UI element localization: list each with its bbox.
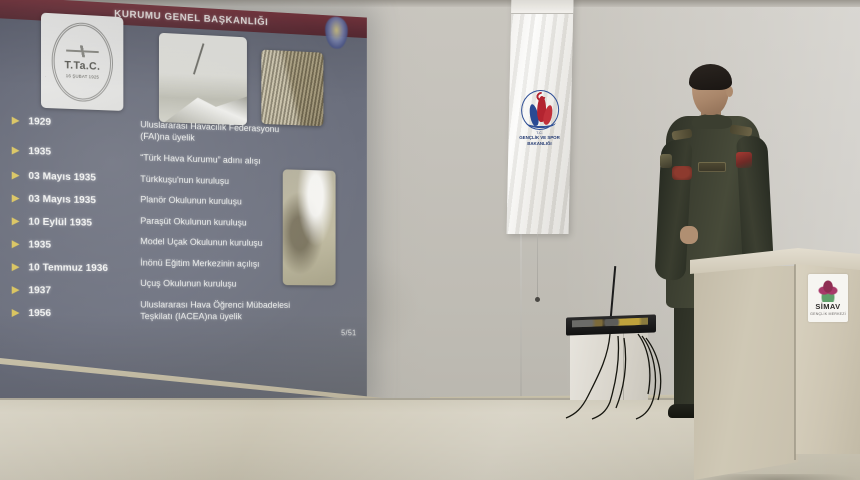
timeline-date: 1937 xyxy=(28,284,51,296)
timeline-row: 1935 xyxy=(12,145,139,161)
slide-event-column: Uluslararası Havacılık Federasyonu (FAI)… xyxy=(140,119,321,331)
timeline-row: 03 Mayıs 1935 xyxy=(12,169,139,184)
timeline-date: 1956 xyxy=(28,307,51,319)
banner-hem xyxy=(511,0,573,14)
arrow-bullet-icon xyxy=(12,117,20,125)
speaker-podium: SİMAV GENÇLİK MERKEZİ xyxy=(690,248,860,470)
timeline-date: 1935 xyxy=(28,145,51,158)
name-tape-patch xyxy=(698,162,726,172)
arrow-bullet-icon xyxy=(12,286,20,294)
podium-logo-plate: SİMAV GENÇLİK MERKEZİ xyxy=(808,274,848,322)
ministry-logo: T.C. GENÇLİK VE SPOR BAKANLIĞI xyxy=(518,90,561,146)
podium-side-panel xyxy=(694,266,798,480)
thk-emblem-icon xyxy=(325,16,348,49)
ttac-emblem-photo: T.Ta.C. 16 ŞUBAT 1925 xyxy=(41,13,123,111)
timeline-row: 1937 xyxy=(12,284,139,297)
timeline-row: 10 Eylül 1935 xyxy=(12,215,139,229)
banner-cord xyxy=(537,234,538,298)
logo-oval-icon xyxy=(521,90,560,130)
left-chest-patch xyxy=(672,166,692,180)
projected-slide: KURUMU GENEL BAŞKANLIĞI T.Ta.C. 16 ŞUBAT… xyxy=(0,0,367,402)
timeline-row: 1935 xyxy=(12,238,139,252)
emblem-abbr: T.Ta.C. xyxy=(65,59,101,72)
timeline-date: 1935 xyxy=(28,239,51,251)
podium-corner-edge xyxy=(794,260,796,460)
timeline-date: 03 Mayıs 1935 xyxy=(28,170,96,184)
timeline-row: 03 Mayıs 1935 xyxy=(12,192,139,207)
timeline-event: Paraşüt Okulunun kuruluşu xyxy=(140,215,321,230)
simav-flower-icon xyxy=(816,280,840,302)
podium-logo-sub: GENÇLİK MERKEZİ xyxy=(810,312,846,316)
arrow-bullet-icon xyxy=(12,194,20,202)
emblem-sub: 16 ŞUBAT 1925 xyxy=(66,73,99,79)
right-shoulder-patch xyxy=(736,152,752,168)
arrow-bullet-icon xyxy=(12,240,20,248)
arrow-bullet-icon xyxy=(12,263,20,271)
glider-photo xyxy=(159,33,247,126)
biplane-icon xyxy=(66,45,99,58)
timeline-date: 1929 xyxy=(28,115,51,128)
presenter-collar xyxy=(692,114,732,129)
arrow-bullet-icon xyxy=(12,217,20,225)
timeline-row: 1929 xyxy=(12,115,139,131)
presenter-left-hand xyxy=(680,226,698,244)
timeline-event: Türkkuşu'nun kuruluşu xyxy=(140,173,321,189)
arrow-bullet-icon xyxy=(12,171,20,179)
presenter-hair xyxy=(689,64,732,90)
banner-org-line2: BAKANLIĞI xyxy=(527,141,552,146)
timeline-event: “Türk Hava Kurumu” adını alışı xyxy=(140,153,321,170)
slide-date-column: 1929 1935 03 Mayıs 1935 03 Mayıs 1935 10… xyxy=(12,115,139,330)
emblem-ring: T.Ta.C. 16 ŞUBAT 1925 xyxy=(52,21,113,103)
timeline-event: Planör Okulunun kuruluşu xyxy=(140,194,321,210)
arrow-bullet-icon xyxy=(12,309,20,317)
slide-header-title: KURUMU GENEL BAŞKANLIĞI xyxy=(114,8,268,28)
photo-scene: KURUMU GENEL BAŞKANLIĞI T.Ta.C. 16 ŞUBAT… xyxy=(0,0,860,480)
timeline-row: 1956 xyxy=(12,307,139,319)
timeline-event: Uluslararası Hava Öğrenci Mübadelesi Teş… xyxy=(140,299,321,322)
timeline-date: 03 Mayıs 1935 xyxy=(28,193,96,206)
timeline-event: İnönü Eğitim Merkezinin açılışı xyxy=(140,257,321,271)
ministry-banner: T.C. GENÇLİK VE SPOR BAKANLIĞI xyxy=(507,0,574,234)
wreath-icon xyxy=(526,117,556,128)
timeline-date: 10 Temmuz 1936 xyxy=(28,261,108,274)
arrow-bullet-icon xyxy=(12,147,20,155)
podium-logo-name: SİMAV xyxy=(815,302,840,311)
timeline-row: 10 Temmuz 1936 xyxy=(12,261,139,274)
timeline-event: Model Uçak Okulunun kuruluşu xyxy=(140,236,321,250)
slide-page-indicator: 5/51 xyxy=(341,329,356,337)
timeline-date: 10 Eylül 1935 xyxy=(28,216,92,229)
timeline-event: Uçuş Okulunun kuruluşu xyxy=(140,278,321,291)
left-shoulder-patch xyxy=(660,154,672,168)
crowd-photo xyxy=(261,50,323,127)
